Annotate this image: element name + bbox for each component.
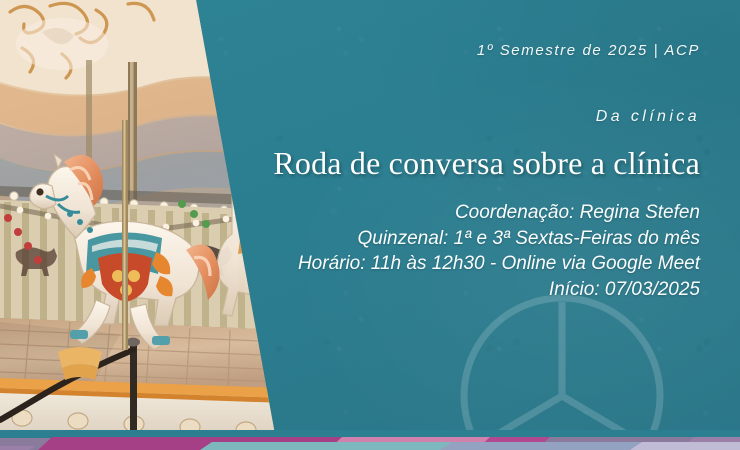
- detail-coordination: Coordenação: Regina Stefen: [180, 200, 700, 226]
- category-label: Da clínica: [596, 108, 700, 126]
- footer-color-strip: [0, 430, 740, 450]
- semester-label: 1º Semestre de 2025 | ACP: [477, 42, 700, 59]
- detail-schedule: Horário: 11h às 12h30 - Online via Googl…: [180, 251, 700, 277]
- event-banner: 1º Semestre de 2025 | ACP Da clínica Rod…: [0, 0, 740, 450]
- event-title: Roda de conversa sobre a clínica: [273, 145, 700, 182]
- detail-start-date: Início: 07/03/2025: [180, 277, 700, 303]
- banner-content: 1º Semestre de 2025 | ACP Da clínica Rod…: [180, 0, 700, 450]
- detail-frequency: Quinzenal: 1ª e 3ª Sextas-Feiras do mês: [180, 226, 700, 252]
- event-details: Coordenação: Regina Stefen Quinzenal: 1ª…: [180, 200, 700, 302]
